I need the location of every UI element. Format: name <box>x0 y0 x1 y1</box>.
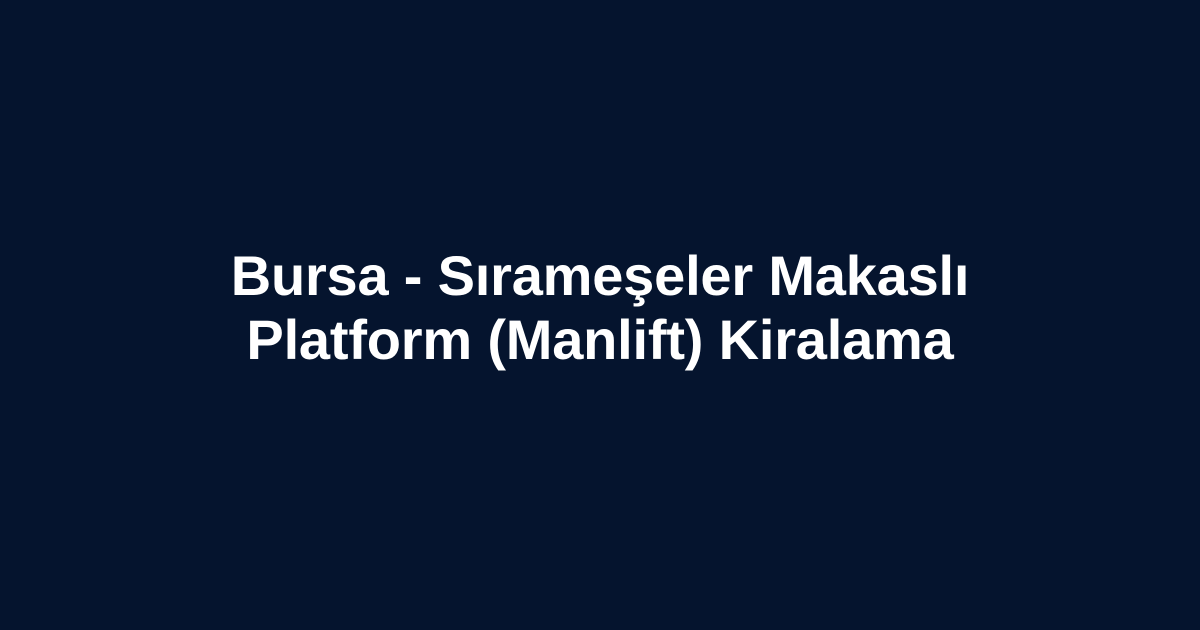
title-block: Bursa - Sırameşeler Makaslı Platform (Ma… <box>70 244 1130 372</box>
share-card-canvas: Bursa - Sırameşeler Makaslı Platform (Ma… <box>0 0 1200 630</box>
page-title: Bursa - Sırameşeler Makaslı Platform (Ma… <box>120 244 1080 372</box>
